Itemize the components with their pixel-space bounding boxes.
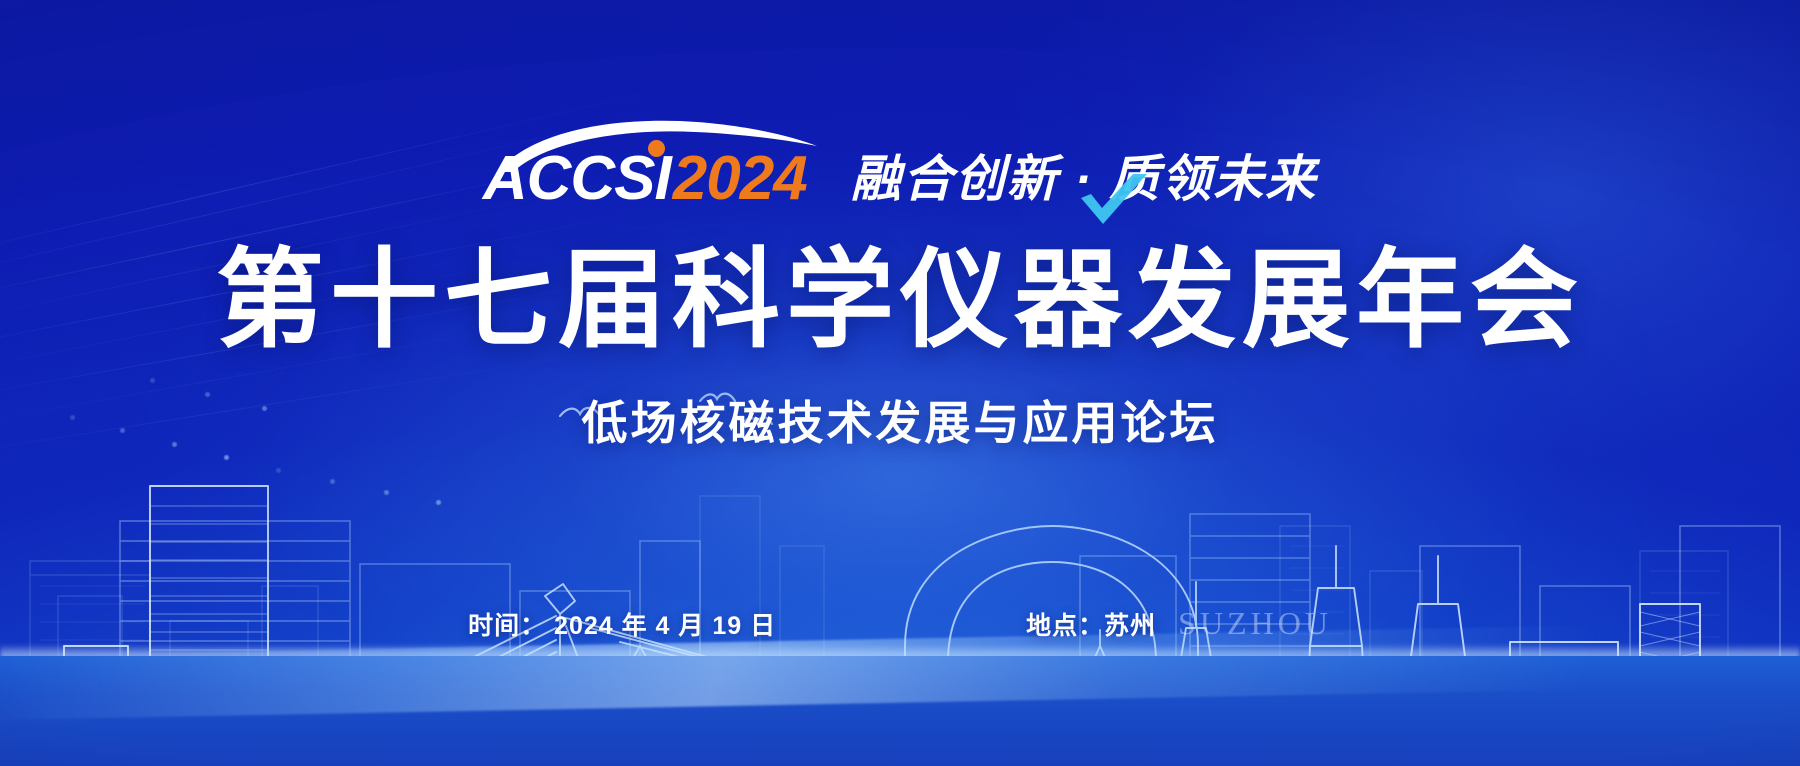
location-label: 地点：	[1026, 606, 1104, 642]
accsi-logo: ACCSI 2024	[483, 148, 807, 210]
location-value: 苏州	[1104, 606, 1156, 642]
date-value: 2024 年 4 月 19 日	[554, 612, 776, 640]
event-location: 地点： 苏州 SUZHOU	[1026, 605, 1332, 642]
banner-content: ACCSI 2024 融合创新 · 质领未来 第十七届科学仪器发展年会 低场核磁…	[0, 0, 1800, 766]
brand-text: ACCSI	[483, 148, 671, 210]
slogan-label: 融合创新 · 质领未来	[851, 151, 1317, 207]
brand-dot-icon	[648, 140, 665, 157]
date-label: 时间：	[468, 612, 546, 640]
year-text: 2024	[673, 148, 807, 210]
event-meta: 时间： 2024 年 4 月 19 日 地点： 苏州 SUZHOU	[0, 605, 1800, 642]
location-value-en: SUZHOU	[1178, 605, 1332, 642]
page-subtitle: 低场核磁技术发展与应用论坛	[0, 400, 1800, 446]
slogan-text: 融合创新 · 质领未来	[851, 154, 1317, 204]
logo-row: ACCSI 2024 融合创新 · 质领未来	[0, 148, 1800, 210]
banner-canvas: ACCSI 2024 融合创新 · 质领未来 第十七届科学仪器发展年会 低场核磁…	[0, 0, 1800, 766]
event-date: 时间： 2024 年 4 月 19 日	[468, 606, 776, 642]
page-title: 第十七届科学仪器发展年会	[0, 240, 1800, 361]
